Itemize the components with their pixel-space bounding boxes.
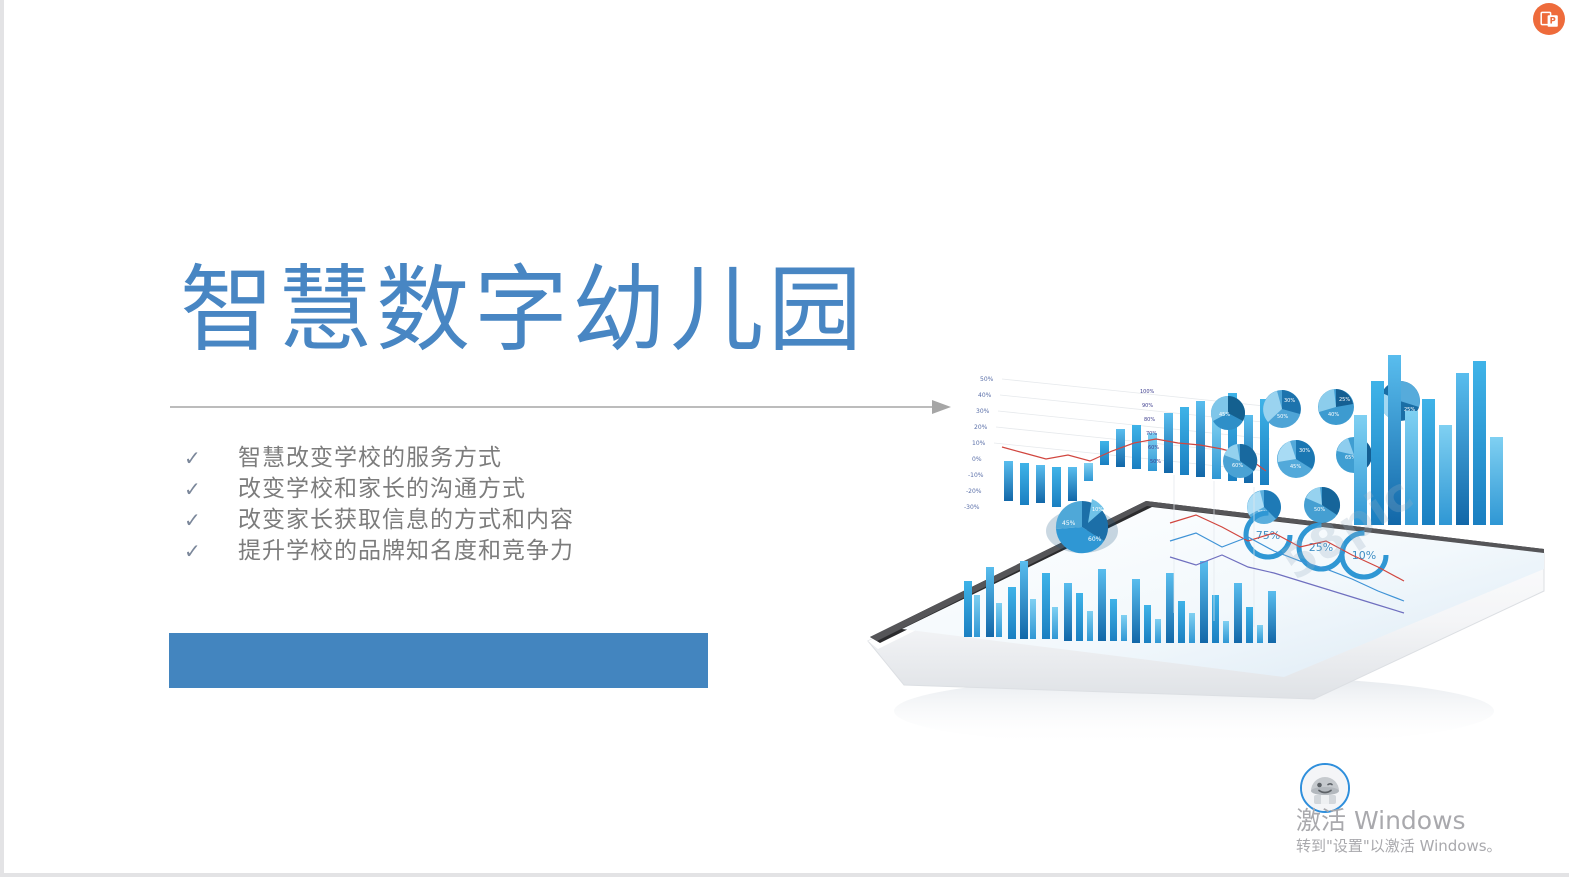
check-mark-icon: ✓ bbox=[184, 505, 238, 536]
presentation-slide: P 智慧数字幼儿园 ✓ 智慧改变学校的服务方式 ✓ 改变学校和家长的沟通方式 ✓… bbox=[0, 0, 1569, 877]
svg-text:-10%: -10% bbox=[968, 472, 984, 479]
list-item: ✓ 提升学校的品牌知名度和竞争力 bbox=[184, 536, 574, 567]
svg-text:50%: 50% bbox=[980, 376, 994, 383]
svg-text:100%: 100% bbox=[1140, 389, 1155, 395]
robot-avatar-icon[interactable] bbox=[1300, 763, 1350, 813]
check-mark-icon: ✓ bbox=[184, 443, 238, 474]
list-item-label: 改变学校和家长的沟通方式 bbox=[238, 474, 526, 505]
svg-text:40%: 40% bbox=[978, 392, 992, 399]
svg-text:30%: 30% bbox=[1284, 398, 1295, 404]
accent-bar bbox=[169, 633, 708, 688]
svg-text:10%: 10% bbox=[1092, 507, 1103, 513]
svg-text:90%: 90% bbox=[1142, 403, 1153, 409]
powerpoint-presentation-icon[interactable]: P bbox=[1533, 3, 1565, 35]
list-item: ✓ 改变学校和家长的沟通方式 bbox=[184, 474, 574, 505]
svg-text:45%: 45% bbox=[1219, 412, 1230, 418]
check-mark-icon: ✓ bbox=[184, 474, 238, 505]
svg-text:50%: 50% bbox=[1150, 459, 1161, 465]
tablet-analytics-dashboard-illustration: 50% 40% 30% 20% 10% 0% -10% -20% -30% bbox=[844, 355, 1564, 775]
svg-text:80%: 80% bbox=[1144, 417, 1155, 423]
svg-text:60%: 60% bbox=[1148, 445, 1159, 451]
svg-text:30%: 30% bbox=[1299, 448, 1310, 454]
list-item-label: 改变家长获取信息的方式和内容 bbox=[238, 505, 574, 536]
svg-text:70%: 70% bbox=[1146, 431, 1157, 437]
svg-text:30%: 30% bbox=[976, 408, 990, 415]
svg-text:40%: 40% bbox=[1328, 412, 1339, 418]
svg-text:P: P bbox=[1549, 15, 1555, 25]
slide-title: 智慧数字幼儿园 bbox=[180, 262, 866, 361]
windows-activation-watermark: 激活 Windows 转到"设置"以激活 Windows。 bbox=[1296, 806, 1502, 856]
list-item: ✓ 智慧改变学校的服务方式 bbox=[184, 443, 574, 474]
svg-text:-30%: -30% bbox=[964, 504, 980, 511]
svg-text:45%: 45% bbox=[1290, 464, 1301, 470]
svg-text:45%: 45% bbox=[1062, 520, 1076, 527]
svg-text:-20%: -20% bbox=[966, 488, 982, 495]
svg-text:20%: 20% bbox=[974, 424, 988, 431]
svg-text:60%: 60% bbox=[1088, 536, 1102, 543]
svg-text:50%: 50% bbox=[1314, 507, 1325, 513]
svg-text:25%: 25% bbox=[1339, 397, 1350, 403]
list-item-label: 提升学校的品牌知名度和竞争力 bbox=[238, 536, 574, 567]
svg-text:10%: 10% bbox=[972, 440, 986, 447]
bullet-list: ✓ 智慧改变学校的服务方式 ✓ 改变学校和家长的沟通方式 ✓ 改变家长获取信息的… bbox=[184, 443, 574, 567]
list-item-label: 智慧改变学校的服务方式 bbox=[238, 443, 502, 474]
list-item: ✓ 改变家长获取信息的方式和内容 bbox=[184, 505, 574, 536]
svg-text:0%: 0% bbox=[972, 456, 982, 463]
activation-subtitle: 转到"设置"以激活 Windows。 bbox=[1296, 836, 1502, 856]
check-mark-icon: ✓ bbox=[184, 536, 238, 567]
svg-text:60%: 60% bbox=[1232, 463, 1243, 469]
svg-text:50%: 50% bbox=[1277, 414, 1288, 420]
right-arrow-rule-icon bbox=[170, 396, 952, 418]
svg-text:75%: 75% bbox=[1256, 529, 1280, 542]
